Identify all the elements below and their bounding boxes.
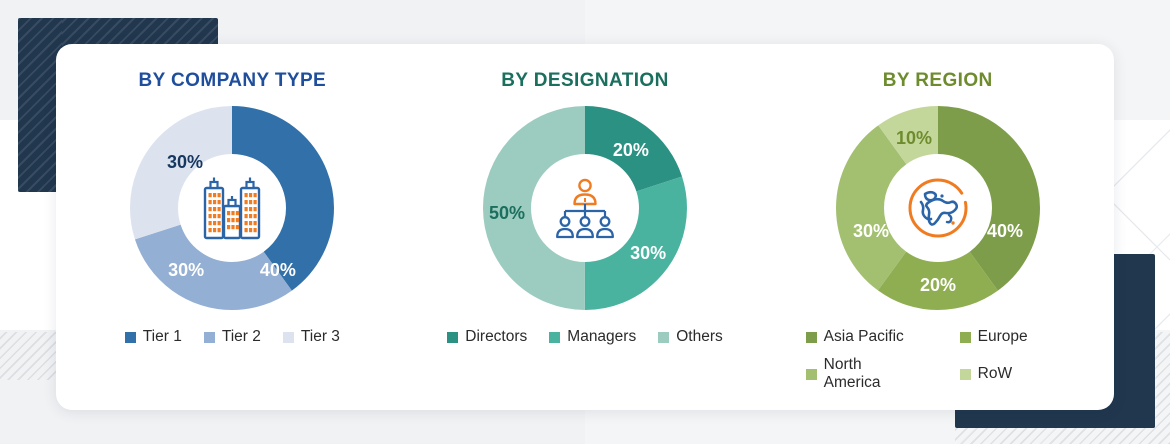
legend-swatch-asia-pacific	[806, 332, 817, 343]
legend-item-asia-pacific[interactable]: Asia Pacific	[806, 328, 916, 346]
legend-label-tier-3: Tier 3	[301, 328, 340, 346]
slice-label-north-america: 30%	[853, 221, 889, 241]
buildings-icon	[201, 175, 263, 241]
slice-label-tier-2: 30%	[168, 260, 204, 280]
slice-label-tier-1: 40%	[260, 260, 296, 280]
legend-swatch-europe	[960, 332, 971, 343]
slice-label-directors: 20%	[613, 140, 649, 160]
center-icon-company-type	[182, 158, 282, 258]
legend-label-others: Others	[676, 328, 723, 346]
legend-item-north-america[interactable]: North America	[806, 356, 916, 392]
content-card: BY COMPANY TYPE 40% 30% 30%	[56, 44, 1114, 410]
legend-designation: Directors Managers Others	[447, 328, 722, 346]
legend-item-row[interactable]: RoW	[960, 356, 1070, 392]
legend-label-managers: Managers	[567, 328, 636, 346]
legend-item-tier-3[interactable]: Tier 3	[283, 328, 340, 346]
legend-swatch-tier-3	[283, 332, 294, 343]
legend-swatch-directors	[447, 332, 458, 343]
legend-item-others[interactable]: Others	[658, 328, 723, 346]
legend-label-tier-2: Tier 2	[222, 328, 261, 346]
donut-chart-designation: 20% 30% 50%	[481, 104, 689, 312]
center-icon-region	[888, 158, 988, 258]
panel-company-type: BY COMPANY TYPE 40% 30% 30%	[56, 44, 409, 410]
slice-label-managers: 30%	[630, 243, 666, 263]
legend-swatch-others	[658, 332, 669, 343]
legend-label-directors: Directors	[465, 328, 527, 346]
legend-item-directors[interactable]: Directors	[447, 328, 527, 346]
slice-label-asia-pacific: 40%	[987, 221, 1023, 241]
slice-label-europe: 20%	[920, 275, 956, 295]
donut-chart-company-type: 40% 30% 30%	[128, 104, 336, 312]
legend-company-type: Tier 1 Tier 2 Tier 3	[125, 328, 340, 346]
corner-accent-bottom-right-stem	[1111, 254, 1155, 428]
legend-item-tier-2[interactable]: Tier 2	[204, 328, 261, 346]
legend-label-tier-1: Tier 1	[143, 328, 182, 346]
legend-item-managers[interactable]: Managers	[549, 328, 636, 346]
panel-row: BY COMPANY TYPE 40% 30% 30%	[56, 44, 1114, 410]
panel-designation: BY DESIGNATION 20% 30% 50%	[409, 44, 762, 410]
slice-label-others: 50%	[489, 203, 525, 223]
panel-title-designation: BY DESIGNATION	[501, 70, 668, 92]
panel-title-company-type: BY COMPANY TYPE	[139, 70, 327, 92]
panel-region: BY REGION 40% 20% 30% 10%	[761, 44, 1114, 410]
legend-swatch-row	[960, 369, 971, 380]
legend-swatch-tier-2	[204, 332, 215, 343]
legend-region: Asia Pacific Europe North America RoW	[798, 328, 1078, 392]
globe-icon	[905, 175, 971, 241]
infographic-canvas: BY COMPANY TYPE 40% 30% 30%	[0, 0, 1170, 444]
legend-swatch-managers	[549, 332, 560, 343]
legend-label-europe: Europe	[978, 328, 1028, 346]
panel-title-region: BY REGION	[883, 70, 993, 92]
legend-label-row: RoW	[978, 365, 1012, 383]
slice-label-row: 10%	[896, 128, 932, 148]
legend-swatch-north-america	[806, 369, 817, 380]
org-chart-icon	[552, 177, 618, 239]
legend-item-tier-1[interactable]: Tier 1	[125, 328, 182, 346]
donut-chart-region: 40% 20% 30% 10%	[834, 104, 1042, 312]
legend-label-asia-pacific: Asia Pacific	[824, 328, 904, 346]
legend-label-north-america: North America	[824, 356, 916, 392]
center-icon-designation	[535, 158, 635, 258]
legend-swatch-tier-1	[125, 332, 136, 343]
legend-item-europe[interactable]: Europe	[960, 328, 1070, 346]
